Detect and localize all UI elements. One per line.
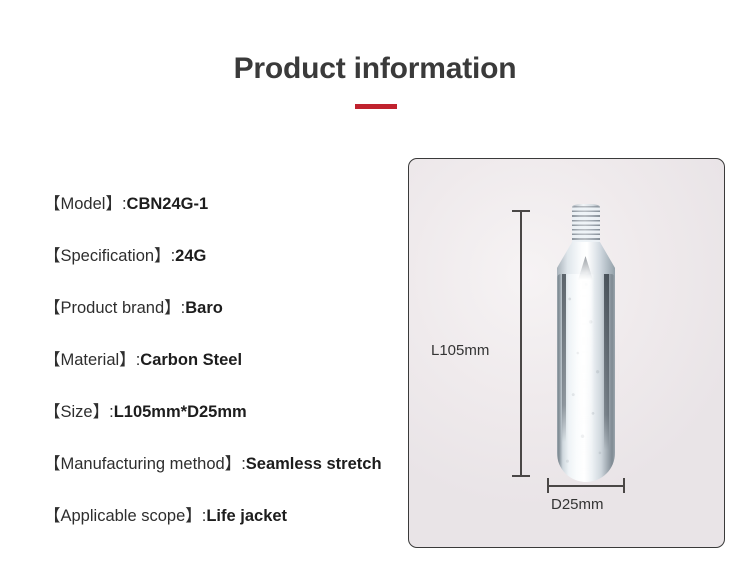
spec-value: Baro	[185, 299, 223, 317]
cartridge-threaded-neck	[572, 206, 600, 246]
page-title: Product information	[0, 52, 750, 86]
spec-label: 【Specification】	[44, 247, 171, 265]
cartridge-reflection-left	[562, 274, 566, 442]
spec-label: 【Model】	[44, 195, 122, 213]
spec-value: Life jacket	[206, 507, 287, 525]
spec-row-size: 【Size】:L105mm*D25mm	[44, 398, 404, 450]
spec-value: Carbon Steel	[140, 351, 242, 369]
cartridge-highlight	[578, 274, 592, 474]
diameter-dimension-cap-right	[623, 478, 625, 493]
cartridge-reflection-right	[604, 274, 609, 450]
spec-row-applicable-scope: 【Applicable scope】:Life jacket	[44, 502, 404, 554]
product-image-panel: L105mm D25mm	[408, 158, 725, 548]
diameter-dimension-label: D25mm	[551, 496, 604, 513]
cartridge-body	[557, 274, 615, 482]
spec-label: 【Material】	[44, 351, 136, 369]
spec-label: 【Applicable scope】	[44, 507, 202, 525]
length-dimension-cap-bottom	[512, 475, 530, 477]
spec-value: L105mm*D25mm	[114, 403, 247, 421]
length-dimension-line	[520, 210, 522, 476]
spec-row-material: 【Material】:Carbon Steel	[44, 346, 404, 398]
spec-value: CBN24G-1	[127, 195, 209, 213]
specification-list: 【Model】:CBN24G-1 【Specification】:24G 【Pr…	[44, 190, 404, 554]
spec-label: 【Product brand】	[44, 299, 181, 317]
spec-label: 【Manufacturing method】	[44, 455, 241, 473]
spec-row-specification: 【Specification】:24G	[44, 242, 404, 294]
spec-label: 【Size】	[44, 403, 109, 421]
spec-row-model: 【Model】:CBN24G-1	[44, 190, 404, 242]
spec-value: 24G	[175, 247, 206, 265]
length-dimension-label: L105mm	[431, 342, 489, 359]
title-accent-bar	[355, 104, 397, 109]
spec-row-product-brand: 【Product brand】:Baro	[44, 294, 404, 346]
co2-cartridge-image	[548, 204, 624, 484]
spec-row-manufacturing-method: 【Manufacturing method】:Seamless stretch	[44, 450, 404, 502]
spec-value: Seamless stretch	[246, 455, 382, 473]
diameter-dimension-line	[547, 485, 625, 487]
